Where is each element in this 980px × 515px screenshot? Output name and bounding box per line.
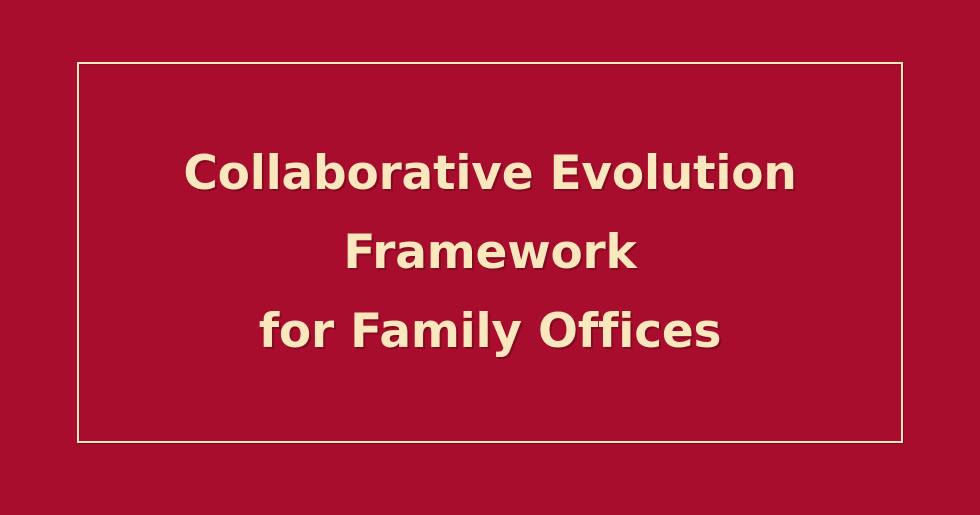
title-slide: Collaborative Evolution Framework for Fa… (0, 0, 980, 515)
title-line-1: Collaborative Evolution (183, 150, 796, 197)
title-block: Collaborative Evolution Framework for Fa… (77, 62, 903, 443)
title-line-3: for Family Offices (259, 308, 722, 355)
title-line-2: Framework (343, 229, 636, 276)
